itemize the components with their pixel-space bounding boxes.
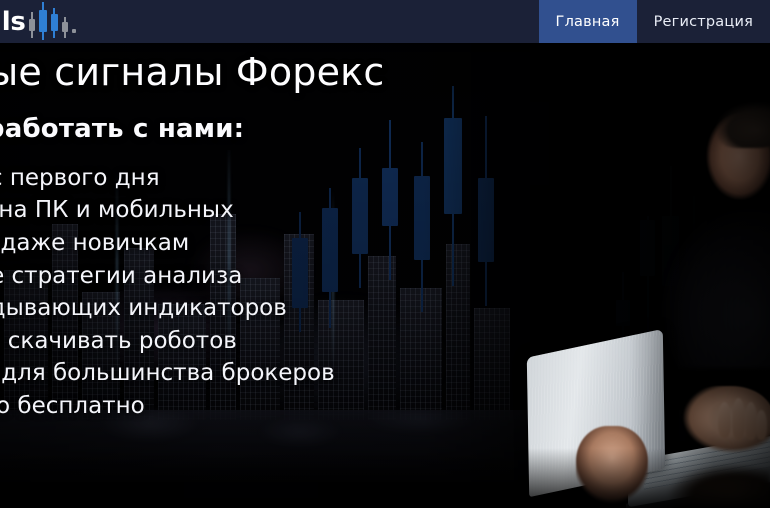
site-logo-text: gnals bbox=[0, 7, 26, 37]
finger bbox=[718, 402, 731, 438]
list-item: отает на ПК и мобильных bbox=[0, 194, 542, 227]
list-item: нужно скачивать роботов bbox=[0, 325, 542, 358]
benefits-list: быль с первого дня отает на ПК и мобильн… bbox=[0, 162, 542, 423]
list-item: тупно даже новичкам bbox=[0, 227, 542, 260]
nav-item-registration[interactable]: Регистрация bbox=[637, 0, 770, 43]
finger bbox=[756, 410, 767, 440]
left-hand bbox=[576, 426, 648, 506]
list-item: ходит для большинства брокеров bbox=[0, 357, 542, 390]
forearm bbox=[650, 448, 770, 508]
finger bbox=[732, 398, 745, 440]
list-item: быль с первого дня bbox=[0, 162, 542, 195]
list-item: ностью бесплатно bbox=[0, 390, 542, 423]
right-hand bbox=[682, 386, 770, 456]
logo-candlestick-icon bbox=[27, 2, 79, 42]
page-root: говые сигналы Форекс чин работать с нами… bbox=[0, 0, 770, 508]
page-title: говые сигналы Форекс bbox=[0, 52, 542, 94]
person-hair bbox=[702, 88, 770, 148]
list-item: ежные стратегии анализа bbox=[0, 260, 542, 293]
site-logo[interactable]: gnals bbox=[0, 0, 79, 43]
hero-subheading: чин работать с нами: bbox=[0, 114, 542, 144]
laptop bbox=[520, 323, 770, 508]
site-header: gnals Главная Регистрация bbox=[0, 0, 770, 43]
hero-copy: говые сигналы Форекс чин работать с нами… bbox=[0, 52, 542, 423]
list-item: запаздывающих индикаторов bbox=[0, 292, 542, 325]
nav-item-home[interactable]: Главная bbox=[539, 0, 637, 43]
main-navigation: Главная Регистрация bbox=[539, 0, 770, 43]
